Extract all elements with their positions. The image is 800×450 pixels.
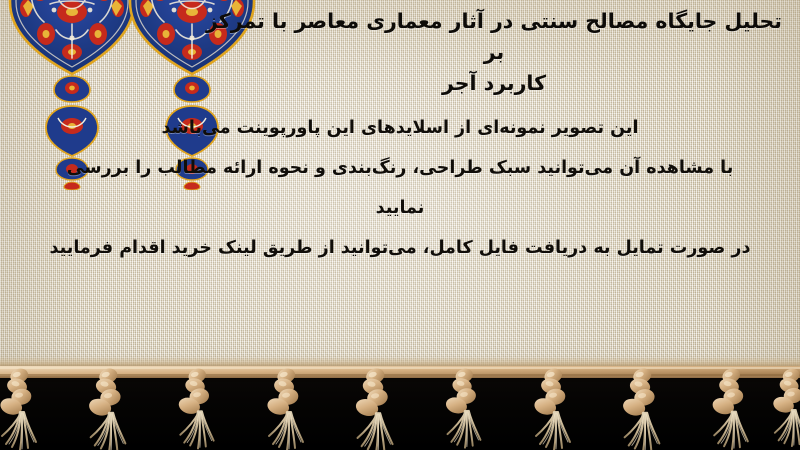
fringe-tassels-icon [0, 340, 800, 450]
slide-title: تحلیل جایگاه مصالح سنتی در آثار معماری م… [196, 6, 792, 99]
slide-title-line-2: کاربرد آجر [196, 68, 792, 99]
slide-title-line-1: تحلیل جایگاه مصالح سنتی در آثار معماری م… [196, 6, 792, 68]
rope-tassel-fringe [0, 340, 800, 450]
presentation-slide: تحلیل جایگاه مصالح سنتی در آثار معماری م… [0, 0, 800, 450]
body-line-2: با مشاهده آن می‌توانید سبک طراحی، رنگ‌بن… [40, 148, 760, 228]
body-line-1: این تصویر نمونه‌ای از اسلایدهای این پاور… [40, 108, 760, 148]
body-line-3: در صورت تمایل به دریافت فایل کامل، می‌تو… [40, 228, 760, 268]
tazhib-motif-left-icon [6, 0, 138, 106]
slide-body: این تصویر نمونه‌ای از اسلایدهای این پاور… [40, 108, 760, 268]
tazhib-ornament-left [6, 0, 138, 106]
